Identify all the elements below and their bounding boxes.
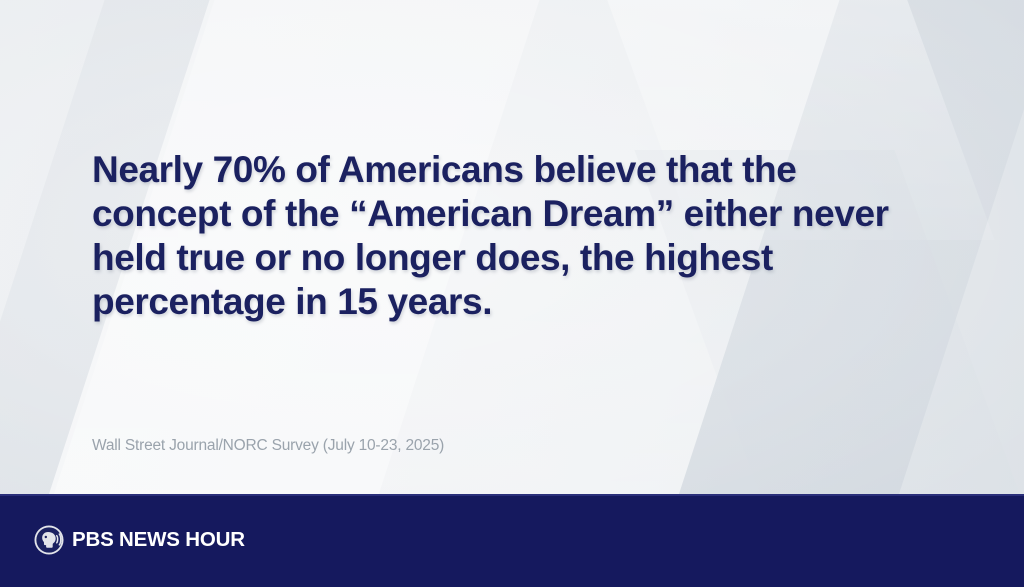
headline-line: held true or no longer does, the highest <box>92 236 892 280</box>
headline-line: percentage in 15 years. <box>92 280 892 324</box>
pbs-head-logo-icon <box>34 525 64 555</box>
headline-line: concept of the “American Dream” either n… <box>92 192 892 236</box>
footer-bar: PBS NEWS HOUR <box>0 494 1024 587</box>
headline-line: Nearly 70% of Americans believe that the <box>92 148 892 192</box>
brand-name-label: PBS NEWS HOUR <box>72 530 245 551</box>
broadcast-graphic-slide: Nearly 70% of Americans believe that the… <box>0 0 1024 587</box>
headline-text: Nearly 70% of Americans believe that the… <box>92 148 892 324</box>
brand-lockup: PBS NEWS HOUR <box>34 525 245 555</box>
source-attribution: Wall Street Journal/NORC Survey (July 10… <box>92 437 444 455</box>
